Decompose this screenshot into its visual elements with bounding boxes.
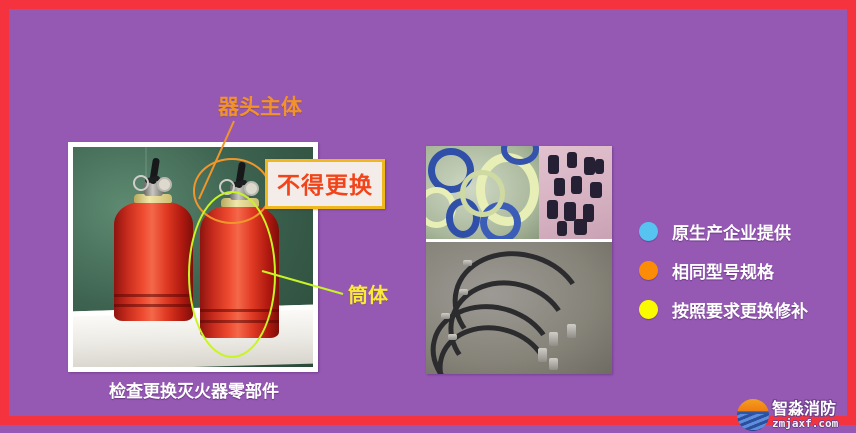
rubber-fitting — [564, 202, 576, 221]
no-replace-badge: 不得更换 — [265, 159, 385, 209]
frame-border-bottom — [0, 416, 856, 425]
cylinder-band — [114, 294, 193, 297]
hose-ferrule — [549, 332, 558, 346]
barrel-highlight-ellipse — [188, 191, 276, 358]
safety-pin-ring-icon — [133, 175, 149, 191]
hose-ferrule — [459, 289, 468, 295]
slide-content-area: 器头主体 不得更换 筒体 检查更换灭火器零部件 原生产企业提供 相同型号规格 按… — [9, 9, 847, 416]
bullet-icon-orange — [639, 261, 658, 280]
bullet-icon-blue — [639, 222, 658, 241]
brand-logo-icon — [737, 399, 769, 431]
frame-border-top — [0, 0, 856, 9]
legend-label-1: 相同型号规格 — [672, 258, 774, 283]
hose-ferrule — [549, 358, 558, 370]
rubber-fitting — [584, 157, 595, 175]
rubber-fittings-photo — [539, 146, 612, 239]
rubber-fitting — [590, 182, 602, 199]
requirements-legend: 原生产企业提供 相同型号规格 按照要求更换修补 — [639, 212, 808, 329]
rubber-fitting — [554, 178, 565, 197]
legend-label-2: 按照要求更换修补 — [672, 297, 808, 322]
rubber-fitting — [567, 152, 577, 169]
watermark: 智淼消防 zmjaxf.com — [737, 399, 838, 431]
head-label: 器头主体 — [218, 91, 302, 121]
bullet-icon-yellow — [639, 300, 658, 319]
left-photo-caption: 检查更换灭火器零部件 — [84, 377, 304, 402]
spare-parts-collage — [426, 146, 612, 374]
rubber-fitting — [557, 221, 567, 236]
legend-item-2: 按照要求更换修补 — [639, 290, 808, 329]
legend-item-1: 相同型号规格 — [639, 251, 808, 290]
slide-canvas: 器头主体 不得更换 筒体 检查更换灭火器零部件 原生产企业提供 相同型号规格 按… — [0, 0, 856, 433]
spray-hoses-photo — [426, 242, 612, 374]
hose-ferrule — [448, 334, 457, 340]
fire-extinguisher-left — [114, 202, 193, 321]
rubber-fitting — [547, 200, 558, 219]
frame-border-left — [0, 0, 9, 425]
hose-ferrule — [463, 260, 472, 266]
watermark-text: 智淼消防 zmjaxf.com — [772, 401, 838, 429]
barrel-label: 筒体 — [348, 279, 388, 308]
brand-url: zmjaxf.com — [772, 418, 838, 429]
sealing-rings-photo — [426, 146, 539, 239]
rubber-fitting — [595, 159, 604, 174]
rubber-fitting — [548, 155, 559, 174]
rubber-fitting — [571, 176, 581, 194]
hose-ferrule — [538, 348, 547, 362]
legend-label-0: 原生产企业提供 — [672, 219, 791, 244]
rubber-fitting — [574, 219, 586, 235]
seal-ring — [460, 170, 505, 217]
brand-name: 智淼消防 — [772, 401, 838, 417]
legend-item-0: 原生产企业提供 — [639, 212, 808, 251]
cylinder-band — [114, 304, 193, 307]
spare-parts-photo — [426, 146, 612, 374]
frame-border-right — [847, 0, 856, 425]
hose-ferrule — [567, 324, 576, 338]
hose-ferrule — [441, 313, 450, 319]
